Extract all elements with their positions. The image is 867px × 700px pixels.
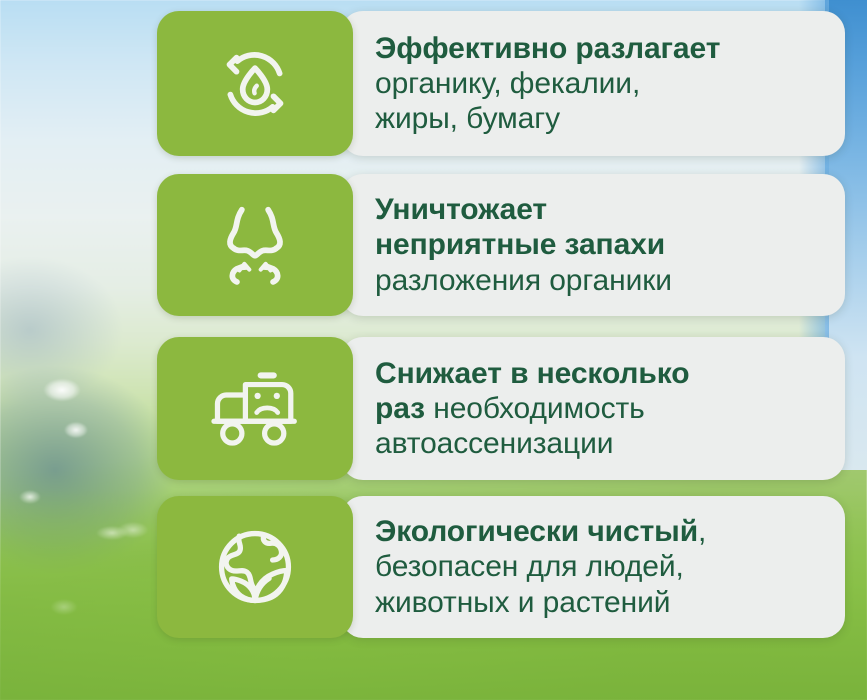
benefit-text-run: разложения органики bbox=[375, 264, 672, 297]
sad-sewage-truck-icon bbox=[207, 367, 303, 451]
benefit-icon-panel bbox=[157, 174, 353, 316]
benefit-text-run: органику, фекалии, bbox=[375, 67, 640, 100]
benefit-text-run: автоассенизации bbox=[375, 427, 613, 460]
benefit-text-run: Уничтожает bbox=[375, 193, 547, 226]
benefit-text-line: органику, фекалии, bbox=[375, 66, 720, 101]
benefit-text-panel: Уничтожаетнеприятные запахиразложения ор… bbox=[341, 174, 845, 316]
benefit-text: Уничтожаетнеприятные запахиразложения ор… bbox=[375, 192, 672, 297]
benefit-text-run: безопасен для людей, bbox=[375, 550, 684, 583]
benefit-text-line: животных и растений bbox=[375, 585, 706, 620]
nose-smell-icon bbox=[214, 199, 296, 291]
benefit-text-run: жиры, бумагу bbox=[375, 102, 560, 135]
benefit-card: Уничтожаетнеприятные запахиразложения ор… bbox=[157, 174, 845, 316]
benefit-icon-panel bbox=[157, 11, 353, 156]
benefit-text-run: раз bbox=[375, 392, 433, 425]
benefit-text-line: безопасен для людей, bbox=[375, 549, 706, 584]
benefit-text-line: Уничтожает bbox=[375, 192, 672, 227]
benefit-text-run: необходимость bbox=[433, 392, 644, 425]
benefit-text-line: Эффективно разлагает bbox=[375, 31, 720, 66]
recycle-water-drop-icon bbox=[211, 40, 299, 128]
benefit-text-panel: Снижает в несколькораз необходимостьавто… bbox=[341, 337, 845, 480]
benefit-text-line: Снижает в несколько bbox=[375, 356, 689, 391]
benefit-text-line: жиры, бумагу bbox=[375, 101, 720, 136]
benefit-text-run: , bbox=[698, 515, 706, 548]
benefit-text-run: животных и растений bbox=[375, 586, 670, 619]
benefit-text-line: раз необходимость bbox=[375, 391, 689, 426]
benefit-card: Эффективно разлагаеторганику, фекалии,жи… bbox=[157, 11, 845, 156]
benefit-text-run: Экологически чистый bbox=[375, 515, 698, 548]
benefit-text-run: Снижает в несколько bbox=[375, 357, 689, 390]
benefit-icon-panel bbox=[157, 337, 353, 480]
benefit-text: Эффективно разлагаеторганику, фекалии,жи… bbox=[375, 31, 720, 136]
benefit-text: Снижает в несколькораз необходимостьавто… bbox=[375, 356, 689, 461]
eco-globe-leaf-icon bbox=[211, 523, 299, 611]
benefit-card: Экологически чистый,безопасен для людей,… bbox=[157, 496, 845, 638]
benefit-text-line: Экологически чистый, bbox=[375, 514, 706, 549]
benefit-text-line: автоассенизации bbox=[375, 426, 689, 461]
benefit-text: Экологически чистый,безопасен для людей,… bbox=[375, 514, 706, 619]
benefit-card-list: Эффективно разлагаеторганику, фекалии,жи… bbox=[0, 0, 867, 700]
benefit-text-run: неприятные запахи bbox=[375, 228, 665, 261]
benefit-text-line: разложения органики bbox=[375, 263, 672, 298]
promo-graphic: Эффективно разлагаеторганику, фекалии,жи… bbox=[0, 0, 867, 700]
benefit-text-run: Эффективно разлагает bbox=[375, 32, 720, 65]
benefit-icon-panel bbox=[157, 496, 353, 638]
benefit-text-line: неприятные запахи bbox=[375, 227, 672, 262]
benefit-text-panel: Экологически чистый,безопасен для людей,… bbox=[341, 496, 845, 638]
benefit-text-panel: Эффективно разлагаеторганику, фекалии,жи… bbox=[341, 11, 845, 156]
benefit-card: Снижает в несколькораз необходимостьавто… bbox=[157, 337, 845, 480]
